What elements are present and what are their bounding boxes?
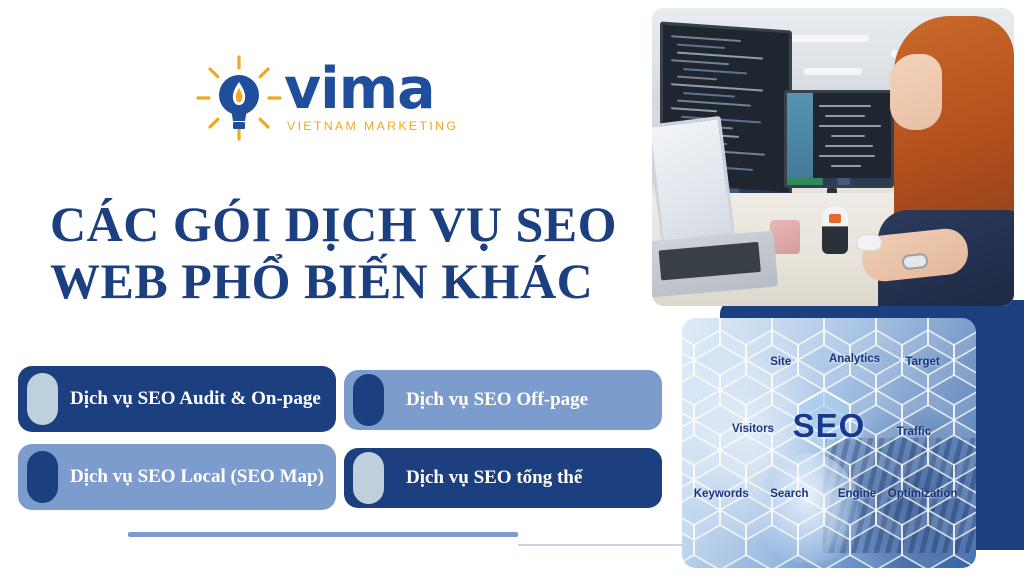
woman-at-computer-photo — [652, 8, 1014, 306]
photo-scene — [652, 8, 1014, 306]
seo-label-search: Search — [770, 488, 808, 500]
photo-laptop-keyboard — [659, 242, 761, 281]
service-card-seo-local-map[interactable]: Dịch vụ SEO Local (SEO Map) — [18, 444, 336, 510]
seo-label-engine: Engine — [838, 488, 876, 500]
brand-wordmark: vima VIETNAM MARKETING — [284, 63, 458, 133]
service-card-label: Dịch vụ SEO tổng thể — [384, 465, 592, 491]
seo-hexagon-graphic: Site Analytics Target Visitors Traffic K… — [682, 318, 976, 568]
seo-label-keywords: Keywords — [694, 488, 749, 500]
seo-label-target: Target — [905, 356, 939, 368]
seo-label-traffic: Traffic — [897, 426, 932, 438]
slide-canvas: vima VIETNAM MARKETING CÁC GÓI DỊCH VỤ S… — [0, 0, 1024, 576]
service-card-label: Dịch vụ SEO Local (SEO Map) — [58, 464, 334, 490]
seo-label-optimization: Optimization — [888, 488, 958, 500]
service-card-seo-audit-onpage[interactable]: Dịch vụ SEO Audit & On-page — [18, 366, 336, 432]
photo-laptop-base — [652, 231, 778, 298]
photo-mouse — [856, 234, 882, 251]
photo-laptop-screen — [652, 116, 735, 244]
card-accent-pill — [353, 452, 384, 504]
brand-name: vima — [284, 63, 458, 115]
photo-ceiling-light — [782, 35, 869, 42]
page-title: CÁC GÓI DỊCH VỤ SEO WEB PHỔ BIẾN KHÁC — [50, 196, 650, 310]
seo-center-label: SEO — [793, 407, 866, 445]
card-accent-pill — [353, 374, 384, 426]
card-accent-pill — [27, 373, 58, 425]
brand-tagline: VIETNAM MARKETING — [287, 119, 458, 133]
brand-logo: vima VIETNAM MARKETING — [196, 52, 466, 144]
seo-label-visitors: Visitors — [732, 423, 774, 435]
service-card-seo-offpage[interactable]: Dịch vụ SEO Off-page — [344, 370, 662, 430]
lightbulb-sun-icon — [196, 55, 282, 141]
photo-laptop — [652, 120, 768, 294]
divider-primary — [128, 532, 518, 537]
service-card-label: Dịch vụ SEO Audit & On-page — [58, 386, 331, 412]
photo-ceiling-light — [804, 68, 862, 75]
photo-desk-figurine — [822, 206, 848, 254]
photo-person-face — [890, 54, 942, 130]
service-card-seo-tong-the[interactable]: Dịch vụ SEO tổng thể — [344, 448, 662, 508]
page-title-line-2: WEB PHỔ BIẾN KHÁC — [50, 253, 650, 310]
seo-label-analytics: Analytics — [829, 353, 880, 365]
service-card-label: Dịch vụ SEO Off-page — [384, 387, 598, 413]
seo-label-site: Site — [770, 356, 791, 368]
card-accent-pill — [27, 451, 58, 503]
photo-person — [870, 10, 1014, 306]
page-title-line-1: CÁC GÓI DỊCH VỤ SEO — [50, 196, 650, 253]
